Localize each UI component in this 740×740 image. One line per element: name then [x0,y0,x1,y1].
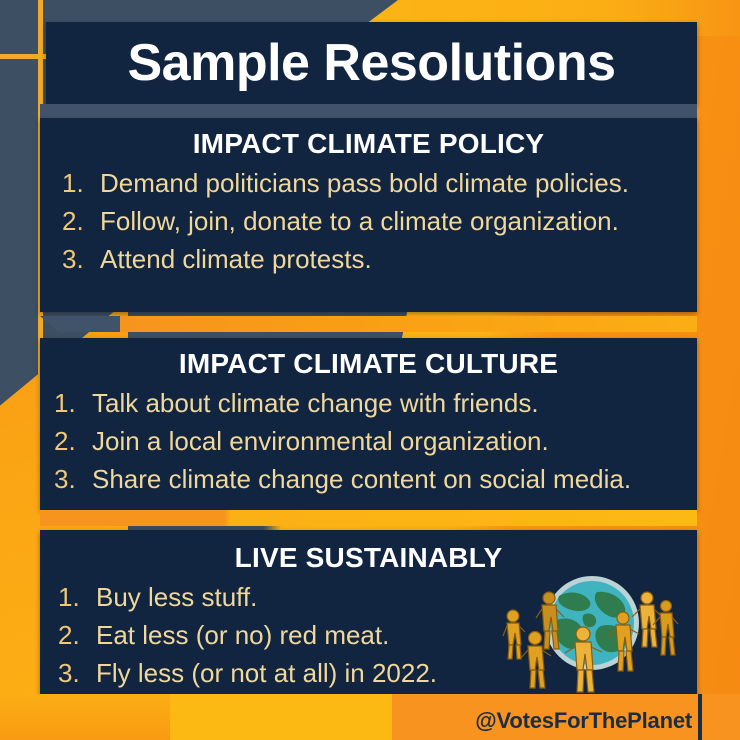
title-panel: Sample Resolutions [46,22,697,104]
section-heading: IMPACT CLIMATE POLICY [40,118,697,164]
poster-canvas: Sample Resolutions IMPACT CLIMATE POLICY… [0,0,740,740]
list-item: Follow, join, donate to a climate organi… [62,202,683,240]
list-item: Demand politicians pass bold climate pol… [62,164,683,202]
list-item: Share climate change content on social m… [54,460,683,498]
section-list: Talk about climate change with friends. … [40,384,697,499]
section-list: Demand politicians pass bold climate pol… [40,164,697,279]
page-title: Sample Resolutions [128,33,616,93]
section-heading: IMPACT CLIMATE CULTURE [40,338,697,384]
list-item: Join a local environmental organization. [54,422,683,460]
footer-band-left [0,694,170,740]
footer-band-middle [170,694,392,740]
footer-tick-mark [698,694,702,740]
divider-section-2-3 [40,510,697,526]
globe-illustration [497,568,687,696]
divider-title [40,104,697,119]
section-panel-impact-climate-policy: IMPACT CLIMATE POLICY Demand politicians… [40,118,697,312]
globe-with-people-icon [497,568,687,696]
list-item: Attend climate protests. [62,240,683,278]
social-handle: @VotesForThePlanet [475,708,692,734]
section-panel-impact-climate-culture: IMPACT CLIMATE CULTURE Talk about climat… [40,338,697,510]
list-item: Talk about climate change with friends. [54,384,683,422]
divider-section-1-2 [120,316,697,332]
